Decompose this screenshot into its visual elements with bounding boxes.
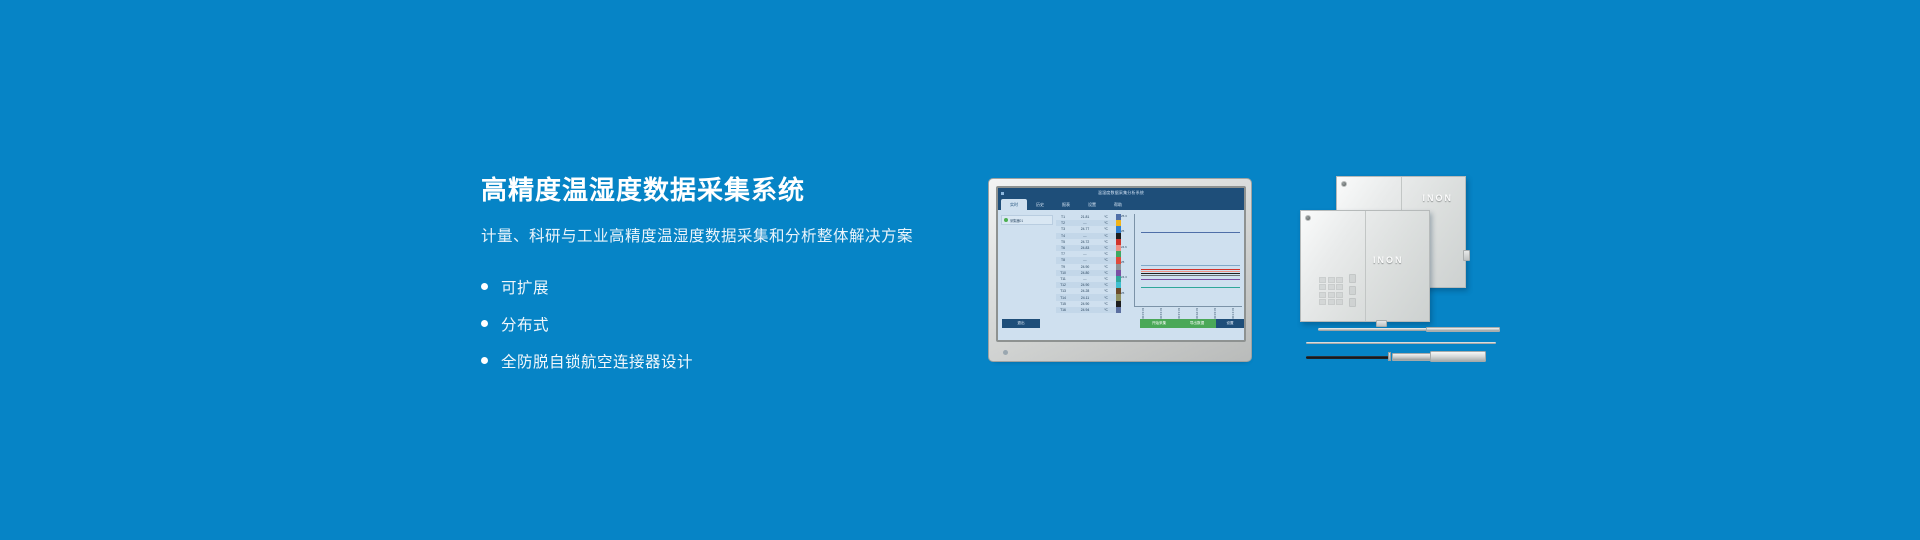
feature-label: 分布式 — [501, 313, 549, 335]
channel-id: T16 — [1056, 308, 1070, 312]
monitor-bezel: 温湿度数据采集分析系统 实时 历史 报表 设置 帮助 采集器01 — [988, 178, 1252, 362]
chart-series-line — [1141, 269, 1239, 270]
brand-label: INON — [1373, 255, 1404, 265]
device-label: 采集器01 — [1010, 218, 1023, 223]
channel-id: T7 — [1056, 252, 1070, 256]
enclosure-front: INON — [1300, 210, 1430, 322]
channel-value: 21.81 — [1070, 215, 1100, 219]
keypad-key — [1328, 277, 1335, 283]
sidebar-item-device[interactable]: 采集器01 — [1001, 215, 1053, 225]
y-tick-label: 24.3 — [1121, 275, 1127, 279]
keypad-key — [1336, 284, 1343, 290]
status-ok-icon — [1004, 218, 1008, 222]
channel-unit: ℃ — [1100, 265, 1112, 269]
channel-value: 24.72 — [1070, 240, 1100, 244]
channel-unit: ℃ — [1100, 296, 1112, 300]
keypad-key — [1319, 284, 1326, 290]
keypad-key — [1336, 299, 1343, 305]
y-tick-label: 25 — [1121, 291, 1124, 295]
app-tab-bar: 实时 历史 报表 设置 帮助 — [998, 198, 1244, 210]
chart-x-axis: 10:12:0010:13:0010:14:0010:15:0010:16:00… — [1134, 308, 1242, 320]
connector-icon — [1463, 250, 1470, 261]
channel-id: T9 — [1056, 265, 1070, 269]
probe-rod-tip — [1426, 327, 1500, 332]
channel-unit: ℃ — [1100, 240, 1112, 244]
screw-icon — [1305, 215, 1311, 221]
channel-unit: ℃ — [1100, 221, 1112, 225]
channel-value: --- — [1070, 221, 1100, 225]
ports-icon — [1349, 274, 1356, 307]
channel-unit: ℃ — [1100, 246, 1112, 250]
x-tick-label: 10:16:00 — [1213, 308, 1217, 320]
port — [1349, 298, 1356, 307]
channel-value: 24.83 — [1070, 246, 1100, 250]
page-subtitle: 计量、科研与工业高精度温湿度数据采集和分析整体解决方案 — [481, 224, 1001, 246]
chart-series-line — [1141, 265, 1239, 266]
channel-unit: ℃ — [1100, 258, 1112, 262]
channel-id: T8 — [1056, 258, 1070, 262]
chart-series-line — [1141, 271, 1239, 272]
probe-aviation-connector-cable — [1392, 353, 1432, 361]
tab-settings[interactable]: 设置 — [1079, 199, 1105, 210]
keypad-key — [1328, 292, 1335, 298]
channel-id: T5 — [1056, 240, 1070, 244]
app-sidebar: 采集器01 — [998, 210, 1056, 318]
channel-unit: ℃ — [1100, 289, 1112, 293]
monitor-bezel-inner: 温湿度数据采集分析系统 实时 历史 报表 设置 帮助 采集器01 — [996, 186, 1246, 342]
table-row[interactable]: T1624.94℃ — [1056, 307, 1116, 313]
feature-label: 全防脱自锁航空连接器设计 — [501, 350, 693, 372]
port — [1349, 286, 1356, 295]
keypad-key — [1336, 277, 1343, 283]
x-tick-label: 10:15:00 — [1195, 308, 1199, 320]
bullet-icon — [481, 357, 488, 364]
device-product-images: INON INON — [1300, 176, 1500, 366]
channel-id: T6 — [1056, 246, 1070, 250]
channel-unit: ℃ — [1100, 308, 1112, 312]
probe-rod-sensor — [1318, 328, 1428, 331]
tab-report[interactable]: 报表 — [1053, 199, 1079, 210]
channel-unit: ℃ — [1100, 283, 1112, 287]
channel-value: 24.11 — [1070, 296, 1100, 300]
app-body: 采集器01 T121.81℃T2---℃T324.77℃T4---℃T524.7… — [998, 210, 1244, 318]
chart-series-line — [1141, 287, 1239, 288]
feature-item: 分布式 — [481, 305, 1001, 342]
channel-unit: ℃ — [1100, 215, 1112, 219]
chart-series-line — [1141, 273, 1239, 274]
channel-id: T13 — [1056, 289, 1070, 293]
channel-table: T121.81℃T2---℃T324.77℃T4---℃T524.72℃T624… — [1056, 210, 1116, 318]
x-tick-label: 10:14:00 — [1177, 308, 1181, 320]
screw-icon — [1341, 181, 1347, 187]
channel-value: 24.80 — [1070, 271, 1100, 275]
chart-plot-area — [1134, 214, 1242, 307]
keypad-key — [1328, 299, 1335, 305]
channel-value: 24.28 — [1070, 289, 1100, 293]
x-tick-label: 10:13:00 — [1159, 308, 1163, 320]
channel-unit: ℃ — [1100, 234, 1112, 238]
channel-unit: ℃ — [1100, 252, 1112, 256]
channel-value: --- — [1070, 252, 1100, 256]
keypad-key — [1319, 277, 1326, 283]
page-title: 高精度温湿度数据采集系统 — [481, 175, 1001, 206]
channel-id: T11 — [1056, 277, 1070, 281]
monitor-screen: 温湿度数据采集分析系统 实时 历史 报表 设置 帮助 采集器01 — [998, 188, 1244, 340]
bullet-icon — [481, 283, 488, 290]
channel-value: 24.94 — [1070, 308, 1100, 312]
channel-id: T1 — [1056, 215, 1070, 219]
x-tick-label: 10:12:00 — [1141, 308, 1145, 320]
tab-history[interactable]: 历史 — [1027, 199, 1053, 210]
channel-value: --- — [1070, 258, 1100, 262]
monitor-indicator-icon — [1003, 350, 1008, 355]
probe-cable-ring — [1388, 352, 1391, 361]
channel-value: 24.90 — [1070, 265, 1100, 269]
keypad-key — [1336, 292, 1343, 298]
channel-unit: ℃ — [1100, 271, 1112, 275]
feature-item: 全防脱自锁航空连接器设计 — [481, 342, 1001, 379]
chart-series-line — [1141, 279, 1239, 280]
chart-series-line — [1141, 275, 1239, 276]
chart-y-axis: 25.32524.62524.325 — [1121, 214, 1133, 306]
channel-id: T14 — [1056, 296, 1070, 300]
feature-label: 可扩展 — [501, 276, 549, 298]
chart-series-line — [1141, 232, 1239, 233]
connector-icon — [1376, 320, 1387, 327]
exit-button[interactable]: 退出 — [1002, 319, 1040, 328]
channel-id: T3 — [1056, 227, 1070, 231]
channel-id: T10 — [1056, 271, 1070, 275]
probe-thin-sensor — [1306, 342, 1496, 344]
port — [1349, 274, 1356, 283]
probe-connector-body — [1430, 351, 1486, 362]
channel-unit: ℃ — [1100, 227, 1112, 231]
y-tick-label: 24.6 — [1121, 245, 1127, 249]
app-window-title: 温湿度数据采集分析系统 — [998, 190, 1244, 196]
bullet-icon — [481, 320, 488, 327]
keypad-key — [1328, 284, 1335, 290]
channel-id: T15 — [1056, 302, 1070, 306]
keypad-key — [1319, 299, 1326, 305]
channel-id: T12 — [1056, 283, 1070, 287]
channel-id: T4 — [1056, 234, 1070, 238]
y-tick-label: 25 — [1121, 229, 1124, 233]
keypad-key — [1319, 292, 1326, 298]
channel-value: 24.90 — [1070, 283, 1100, 287]
tab-help[interactable]: 帮助 — [1105, 199, 1131, 210]
probe-cable — [1306, 356, 1390, 359]
enclosure-seam — [1365, 211, 1366, 321]
feature-list: 可扩展 分布式 全防脱自锁航空连接器设计 — [481, 268, 1001, 379]
channel-value: 24.77 — [1070, 227, 1100, 231]
channel-value: --- — [1070, 277, 1100, 281]
app-titlebar: 温湿度数据采集分析系统 — [998, 188, 1244, 198]
y-tick-label: 25.3 — [1121, 214, 1127, 218]
tab-realtime[interactable]: 实时 — [1001, 199, 1027, 210]
channel-id: T2 — [1056, 221, 1070, 225]
y-tick-label: 25 — [1121, 260, 1124, 264]
monitor-product-image: 温湿度数据采集分析系统 实时 历史 报表 设置 帮助 采集器01 — [988, 178, 1252, 362]
x-tick-label: 10:17:00 — [1231, 308, 1235, 320]
channel-value: 24.90 — [1070, 302, 1100, 306]
keypad-icon — [1319, 277, 1343, 306]
channel-value: --- — [1070, 234, 1100, 238]
brand-label: INON — [1423, 193, 1454, 203]
chart-pane: 25.32524.62524.325 10:12:0010:13:0010:14… — [1121, 210, 1244, 318]
channel-unit: ℃ — [1100, 277, 1112, 281]
channel-unit: ℃ — [1100, 302, 1112, 306]
banner-text-block: 高精度温湿度数据采集系统 计量、科研与工业高精度温湿度数据采集和分析整体解决方案… — [481, 175, 1001, 379]
feature-item: 可扩展 — [481, 268, 1001, 305]
